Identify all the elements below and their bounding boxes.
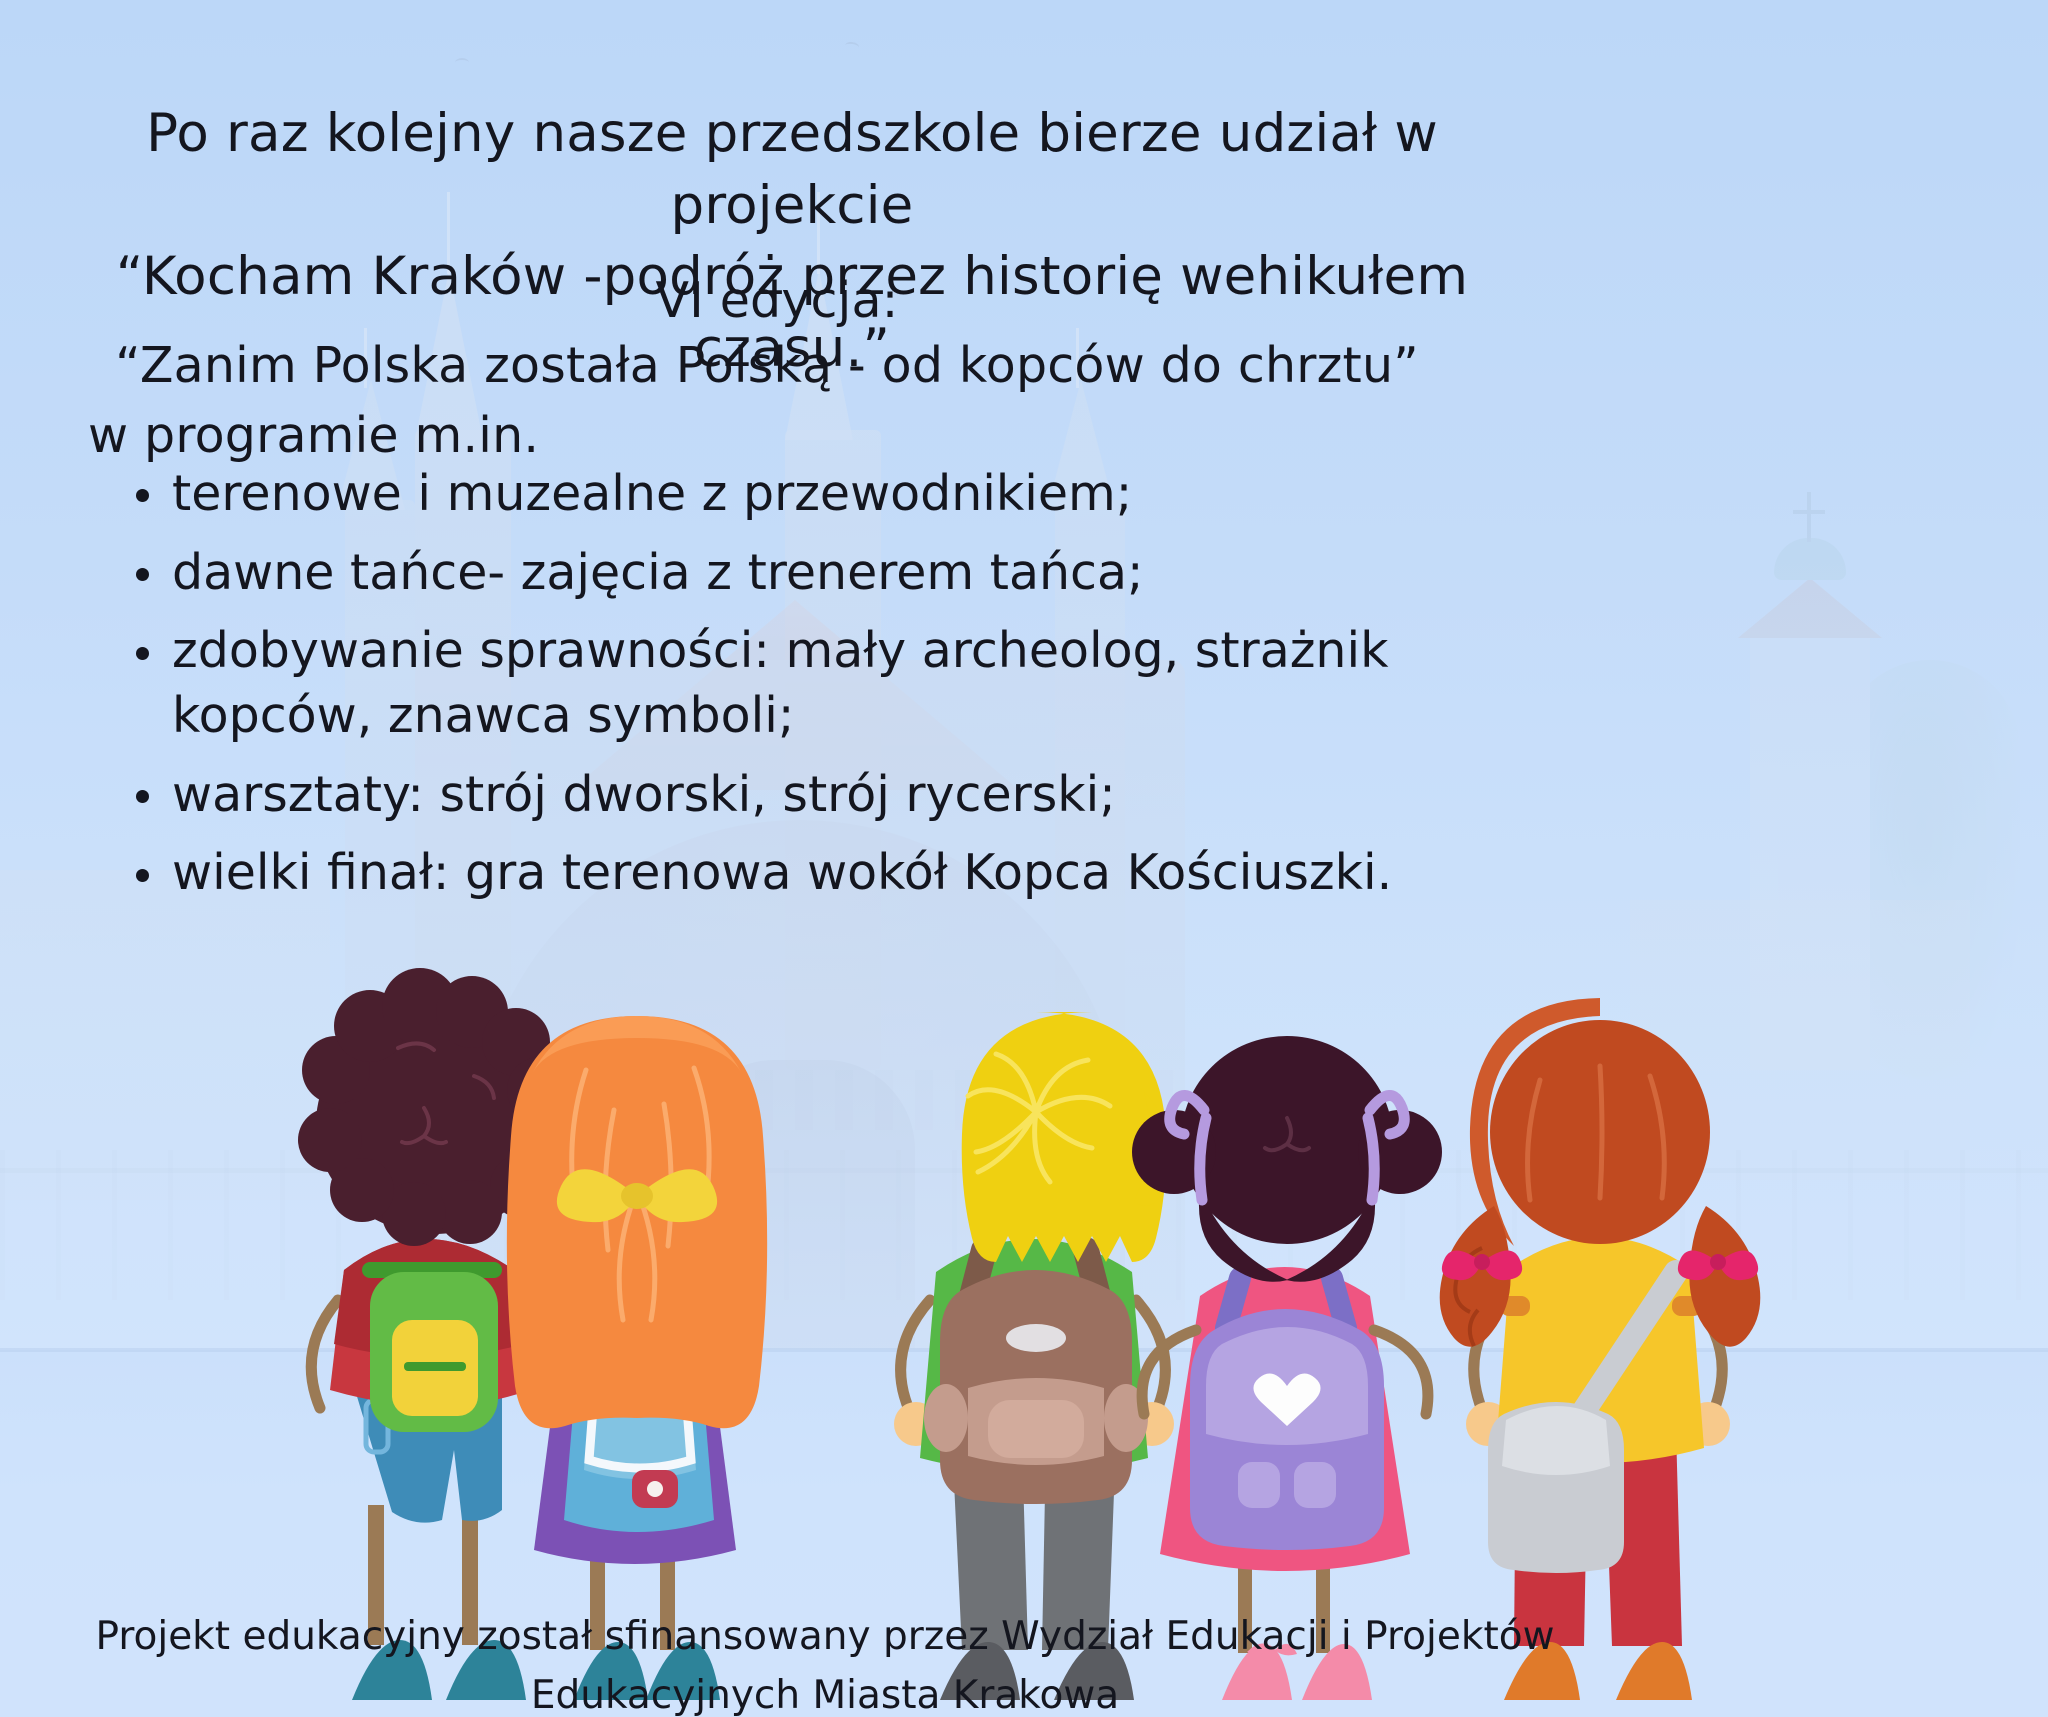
poster-canvas: Po raz kolejny nasze przedszkole bierze … [0,0,2048,1717]
list-item-label: zdobywanie sprawności: mały archeolog, s… [172,622,1388,744]
list-item-label: dawne tańce- zajęcia z trenerem tańca; [172,544,1144,601]
list-item-label: terenowe i muzealne z przewodnikiem; [172,465,1132,522]
program-intro: w programie m.in. [88,403,539,469]
child-blond-hair-green-shirt [894,1012,1174,1700]
list-item: warsztaty: strój dworski, strój rycerski… [172,763,1502,828]
list-item: dawne tańce- zajęcia z trenerem tańca; [172,541,1502,606]
poster-footer: Projekt edukacyjny został sfinansowany p… [60,1608,1590,1717]
child-braids-yellow-shirt [1440,998,1761,1700]
bullet-icon [136,489,149,502]
child-orange-hair-blue-dress [507,1016,767,1700]
list-item: wielki finał: gra terenowa wokół Kopca K… [172,841,1502,906]
list-item-label: warsztaty: strój dworski, strój rycerski… [172,766,1116,823]
program-list: terenowe i muzealne z przewodnikiem; daw… [120,462,1502,920]
footer-line-2: Edukacyjnych Miasta Krakowa [60,1667,1590,1717]
poster-subtitle: “Zanim Polska została Polską - od kopców… [42,333,1492,399]
footer-line-1: Projekt edukacyjny został sfinansowany p… [60,1608,1590,1667]
bullet-icon [136,869,149,882]
list-item: terenowe i muzealne z przewodnikiem; [172,462,1502,527]
list-item-label: wielki finał: gra terenowa wokół Kopca K… [172,844,1392,901]
bullet-icon [136,647,149,660]
edition-label: VI edycja: [42,268,1512,334]
title-line-1: Po raz kolejny nasze przedszkole bierze … [42,98,1542,241]
list-item: zdobywanie sprawności: mały archeolog, s… [172,619,1502,748]
bullet-icon [136,790,149,803]
bullet-icon [136,568,149,581]
child-pigtails-pink-dress [1132,1036,1442,1700]
